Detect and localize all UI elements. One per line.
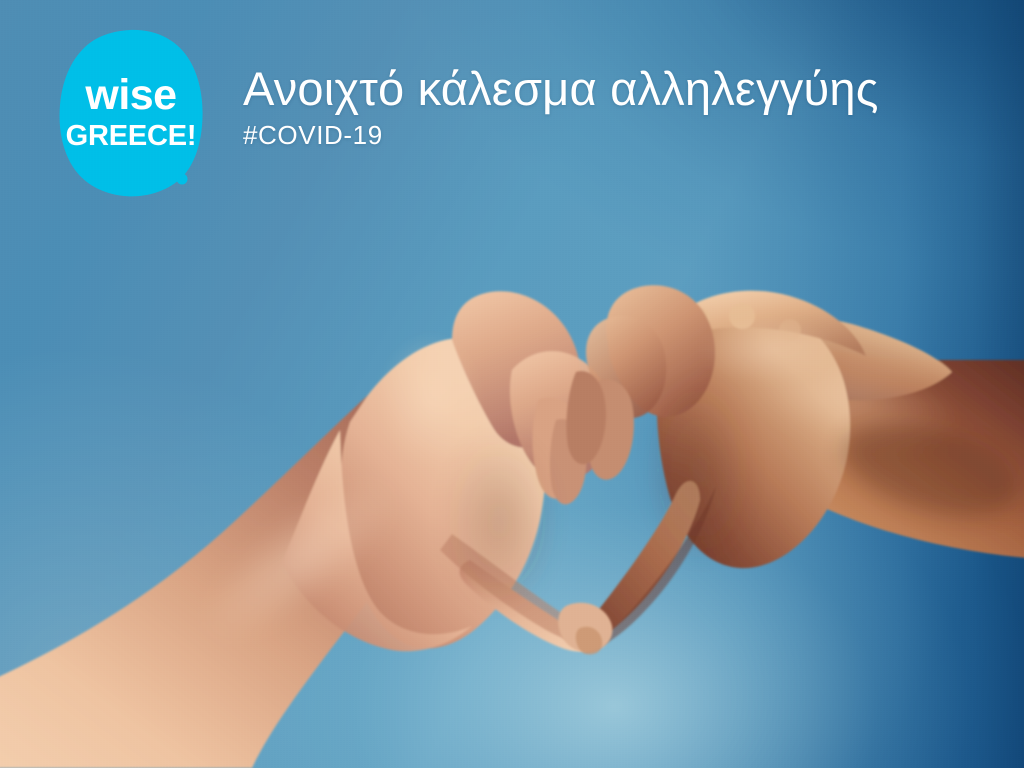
page-subtitle: #COVID-19	[243, 120, 1003, 151]
left-hand-heart-half	[0, 291, 612, 768]
logo-wordmark: wise GREECE!	[58, 74, 204, 151]
logo-line-greece: GREECE!	[58, 122, 204, 151]
right-hand-heart-half	[566, 285, 1024, 652]
logo-line-wise: wise	[58, 74, 204, 117]
page-title: Ανοιχτό κάλεσμα αλληλεγγύης	[243, 64, 1003, 113]
poster-canvas: wise GREECE! Ανοιχτό κάλεσμα αλληλεγγύης…	[0, 0, 1024, 768]
wise-greece-logo[interactable]: wise GREECE!	[58, 28, 204, 203]
headline-block: Ανοιχτό κάλεσμα αλληλεγγύης #COVID-19	[243, 64, 1003, 151]
